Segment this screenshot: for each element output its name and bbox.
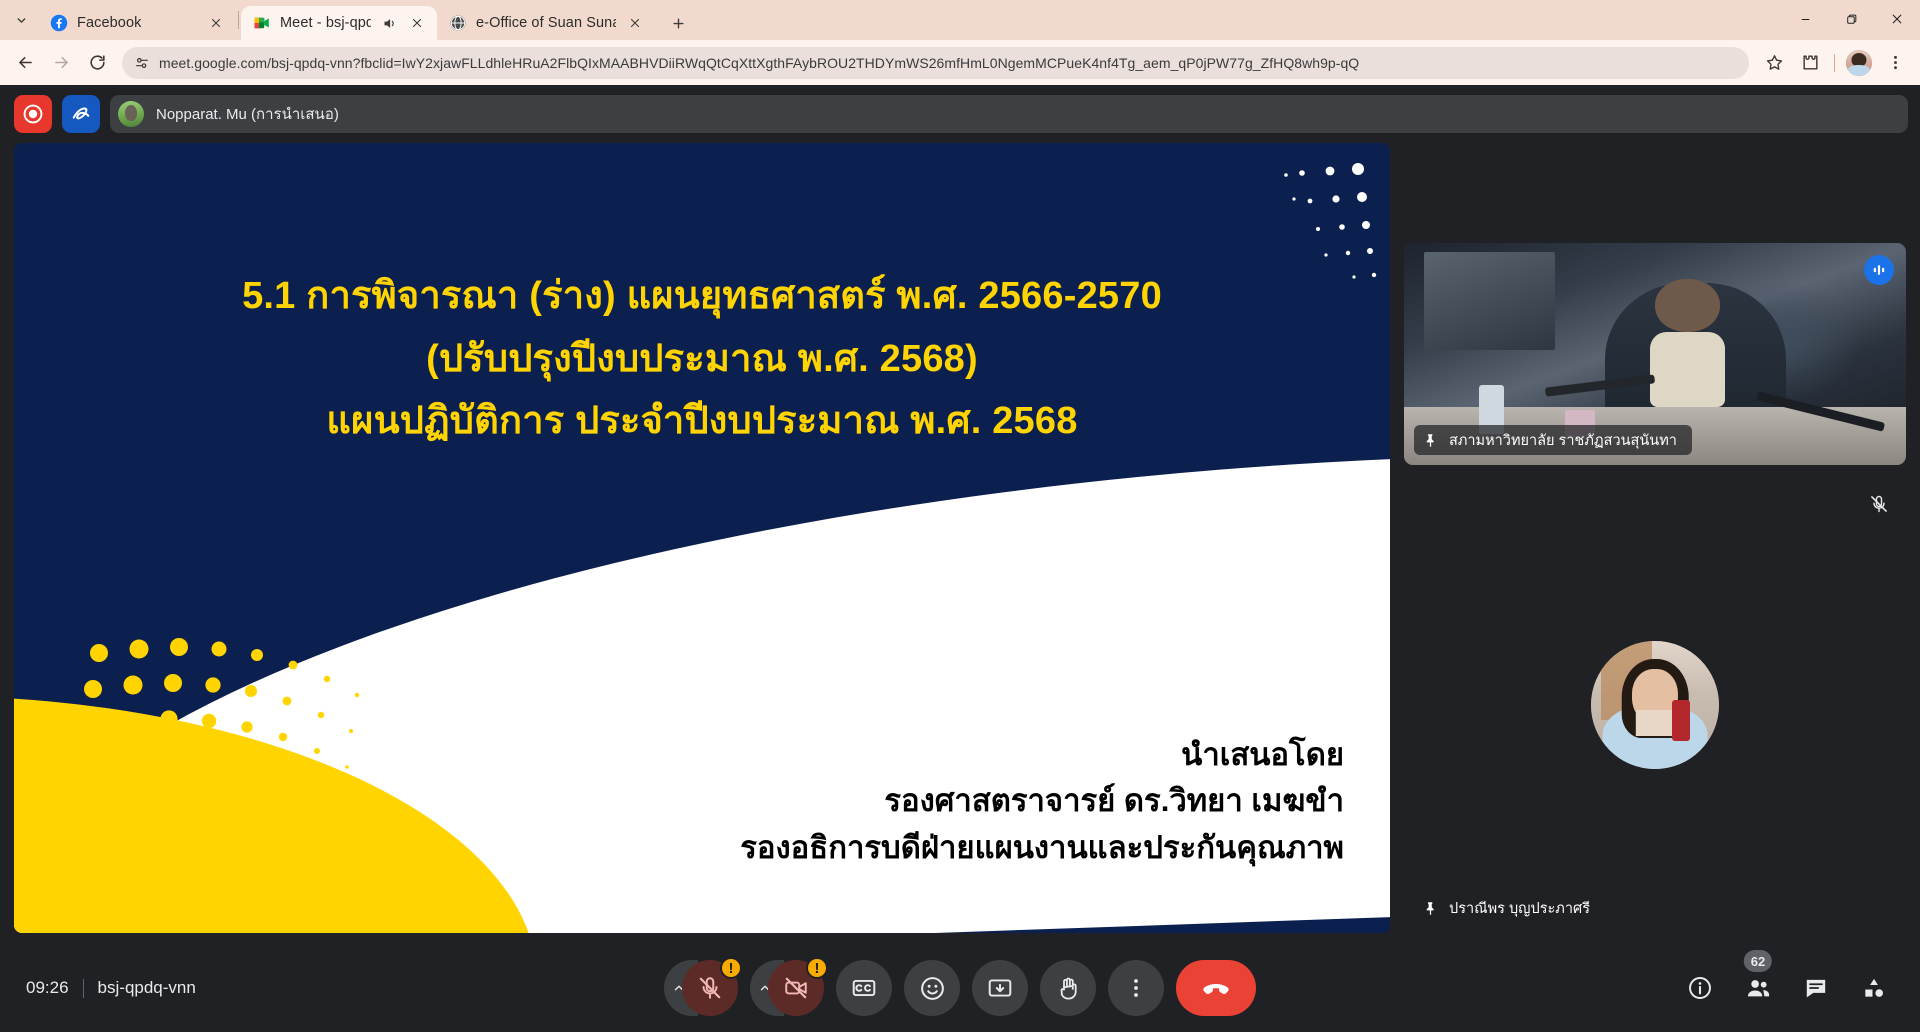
tab-close-icon[interactable]: [625, 13, 645, 33]
participant-label: สภามหาวิทยาลัย ราชภัฏสวนสุนันทา: [1414, 425, 1692, 455]
globe-icon: [449, 14, 467, 32]
pen-extension-icon[interactable]: [62, 95, 100, 133]
presentation-slide: 5.1 การพิจารณา (ร่าง) แผนยุทธศาสตร์ พ.ศ.…: [14, 143, 1390, 933]
slide-title: 5.1 การพิจารณา (ร่าง) แผนยุทธศาสตร์ พ.ศ.…: [14, 265, 1390, 453]
divider: [83, 979, 84, 998]
participant-tile-room[interactable]: สภามหาวิทยาลัย ราชภัฏสวนสุนันทา: [1404, 243, 1906, 465]
toolbar-divider: [1834, 54, 1835, 72]
participant-count-badge: 62: [1744, 950, 1772, 972]
participant-tile-pranepron[interactable]: ปราณีพร บุญประภาศรี: [1404, 477, 1906, 933]
camera-toggle[interactable]: !: [768, 960, 824, 1016]
meeting-details-button[interactable]: [1676, 964, 1724, 1012]
tab-title: e-Office of Suan Sunandha Raj: [476, 15, 616, 31]
leave-call-button[interactable]: [1176, 960, 1256, 1016]
camera-warning-badge: !: [806, 957, 828, 979]
presenting-banner[interactable]: Nopparat. Mu (การนำเสนอ): [110, 95, 1908, 133]
address-bar[interactable]: meet.google.com/bsj-qpdq-vnn?fbclid=IwY2…: [122, 47, 1749, 79]
slide-credit-line-3: รองอธิการบดีฝ่ายแผนงานและประกันคุณภาพ: [740, 825, 1344, 872]
three-dot-menu-icon[interactable]: [1878, 46, 1912, 80]
presenter-name: Nopparat. Mu (การนำเสนอ): [156, 102, 339, 126]
present-now-button[interactable]: [972, 960, 1028, 1016]
secondary-controls: 62: [1450, 964, 1920, 1012]
meeting-time: 09:26: [26, 978, 69, 998]
pin-icon: [1423, 433, 1438, 448]
reload-icon[interactable]: [80, 46, 114, 80]
meet-header: Nopparat. Mu (การนำเสนอ): [0, 85, 1920, 135]
meeting-control-bar: 09:26 bsj-qpdq-vnn !: [0, 944, 1920, 1032]
forward-arrow-icon[interactable]: [44, 46, 78, 80]
slide-title-line-2: (ปรับปรุงปีงบประมาณ พ.ศ. 2568): [54, 328, 1350, 391]
microphone-control-group: !: [664, 960, 738, 1016]
slide-credits: นำเสนอโดย รองศาสตราจารย์ ดร.วิทยา เมฆขำ …: [740, 732, 1344, 872]
browser-tab-facebook[interactable]: Facebook: [38, 6, 236, 40]
browser-toolbar: meet.google.com/bsj-qpdq-vnn?fbclid=IwY2…: [0, 40, 1920, 85]
slide-title-line-1: 5.1 การพิจารณา (ร่าง) แผนยุทธศาสตร์ พ.ศ.…: [54, 265, 1350, 328]
google-meet-app: Nopparat. Mu (การนำเสนอ): [0, 85, 1920, 1032]
tab-title: Meet - bsj-qpdq-vnn: [280, 15, 371, 31]
primary-controls: ! !: [470, 960, 1450, 1016]
tab-close-icon[interactable]: [206, 13, 226, 33]
facebook-icon: [50, 14, 68, 32]
back-arrow-icon[interactable]: [8, 46, 42, 80]
avatar: [1591, 641, 1719, 769]
slide-credit-line-2: รองศาสตราจารย์ ดร.วิทยา เมฆขำ: [740, 778, 1344, 825]
chat-panel-button[interactable]: [1792, 964, 1840, 1012]
slide-dot-pattern-yellow: [69, 623, 459, 833]
mic-off-icon: [1864, 489, 1894, 519]
camera-control-group: !: [750, 960, 824, 1016]
minimize-icon[interactable]: [1782, 0, 1828, 38]
speaking-indicator-icon: [1864, 255, 1894, 285]
tab-divider: [238, 11, 239, 29]
tab-close-icon[interactable]: [407, 13, 427, 33]
close-icon[interactable]: [1874, 0, 1920, 38]
microphone-warning-badge: !: [720, 957, 742, 979]
slide-title-line-3: แผนปฏิบัติการ ประจำปีงบประมาณ พ.ศ. 2568: [54, 390, 1350, 453]
extensions-puzzle-icon[interactable]: [1793, 46, 1827, 80]
avatar-icon: [118, 101, 144, 127]
captions-toggle[interactable]: [836, 960, 892, 1016]
reactions-button[interactable]: [904, 960, 960, 1016]
browser-tab-eoffice[interactable]: e-Office of Suan Sunandha Raj: [437, 6, 655, 40]
star-icon[interactable]: [1757, 46, 1791, 80]
tab-search-chevron-down-icon[interactable]: [4, 0, 38, 40]
participant-name: ปราณีพร บุญประภาศรี: [1449, 897, 1590, 920]
browser-tab-strip: Facebook Meet - bsj-qpdq-vnn: [0, 0, 1920, 40]
site-settings-icon[interactable]: [134, 55, 150, 71]
more-options-button[interactable]: [1108, 960, 1164, 1016]
window-controls: [1782, 0, 1920, 40]
activities-button[interactable]: [1850, 964, 1898, 1012]
people-panel-button[interactable]: 62: [1734, 964, 1782, 1012]
record-icon[interactable]: [14, 95, 52, 133]
tab-audio-playing-icon[interactable]: [380, 16, 398, 31]
google-meet-icon: [253, 14, 271, 32]
microphone-toggle[interactable]: !: [682, 960, 738, 1016]
participant-name: สภามหาวิทยาลัย ราชภัฏสวนสุนันทา: [1449, 429, 1677, 452]
tab-list: Facebook Meet - bsj-qpdq-vnn: [0, 0, 1782, 40]
meeting-code: bsj-qpdq-vnn: [98, 978, 196, 998]
shared-screen-stage[interactable]: 5.1 การพิจารณา (ร่าง) แผนยุทธศาสตร์ พ.ศ.…: [14, 143, 1390, 933]
pin-icon: [1423, 901, 1438, 916]
raise-hand-button[interactable]: [1040, 960, 1096, 1016]
tab-title: Facebook: [77, 15, 197, 31]
restore-icon[interactable]: [1828, 0, 1874, 38]
browser-tab-meet[interactable]: Meet - bsj-qpdq-vnn: [241, 6, 437, 40]
slide-credit-line-1: นำเสนอโดย: [740, 732, 1344, 779]
url-text: meet.google.com/bsj-qpdq-vnn?fbclid=IwY2…: [159, 55, 1359, 71]
profile-avatar[interactable]: [1842, 46, 1876, 80]
meeting-info-left: 09:26 bsj-qpdq-vnn: [0, 978, 470, 998]
participant-label: ปราณีพร บุญประภาศรี: [1414, 893, 1605, 923]
new-tab-button[interactable]: [661, 6, 695, 40]
